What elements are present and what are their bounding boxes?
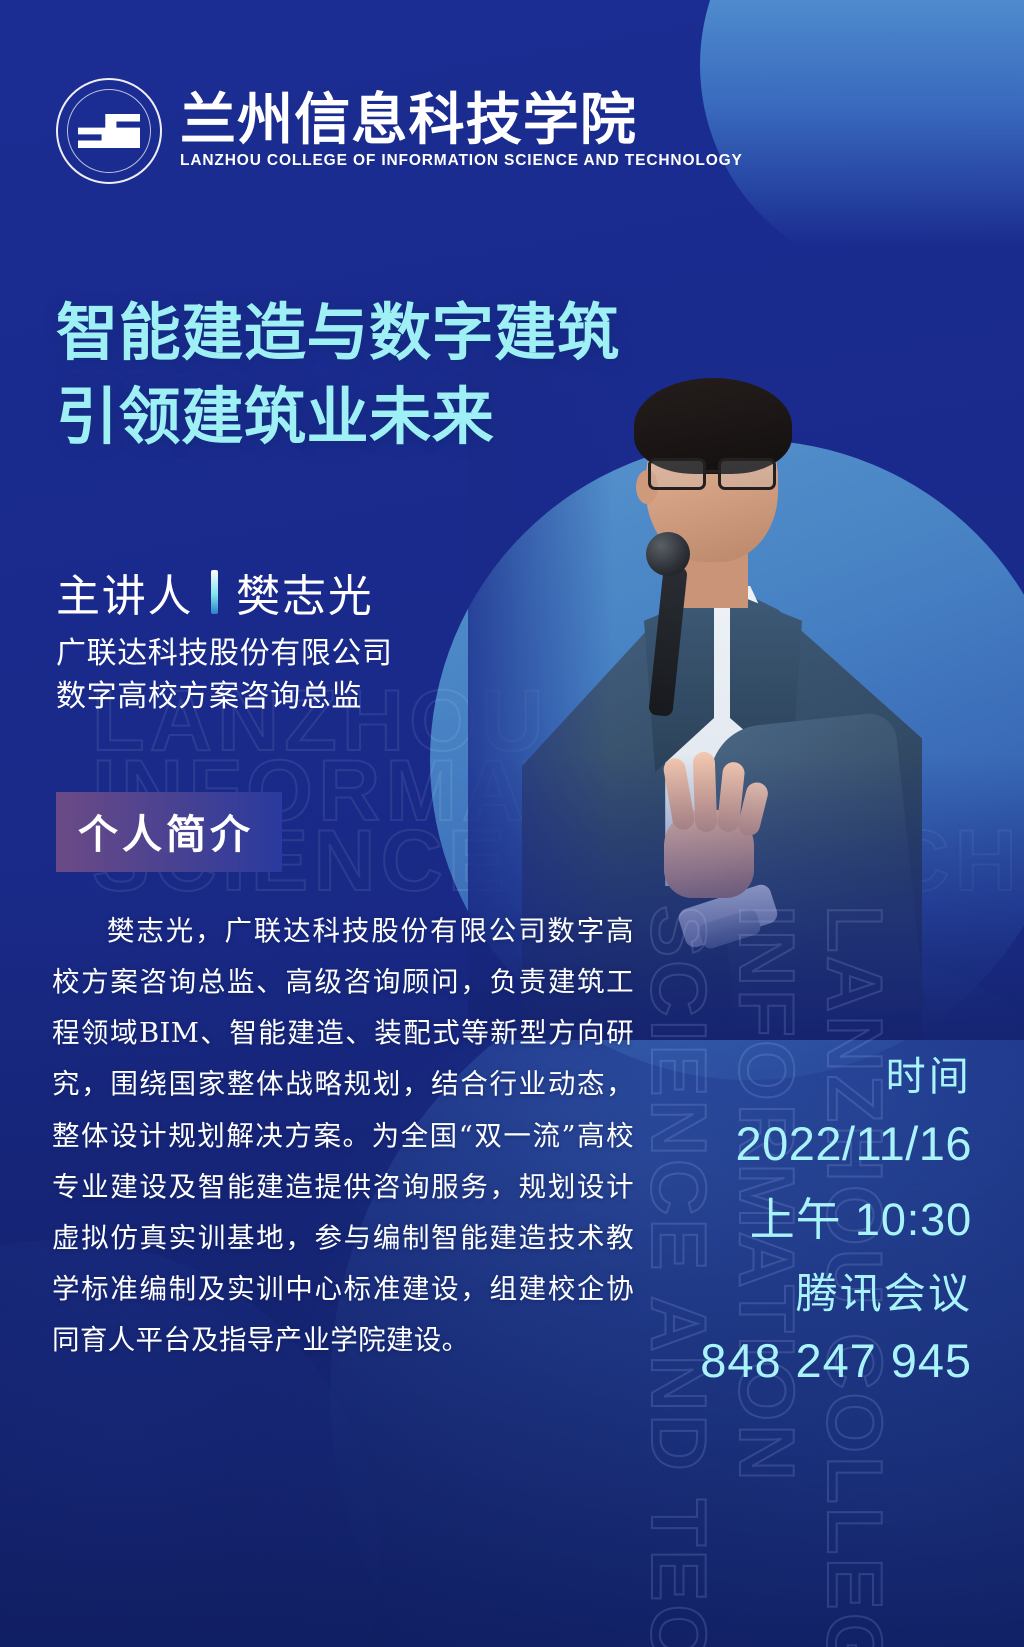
affiliation-line-2: 数字高校方案咨询总监 (56, 675, 393, 718)
title-line-1: 智能建造与数字建筑 (56, 292, 620, 376)
bio-paragraph: 樊志光，广联达科技股份有限公司数字高校方案咨询总监、高级咨询顾问，负责建筑工程领… (52, 906, 634, 1366)
meeting-platform: 腾讯会议 (700, 1260, 972, 1321)
university-crest-icon (56, 78, 162, 184)
poster-title: 智能建造与数字建筑 引领建筑业未来 (56, 292, 620, 461)
speaker-separator-bar (211, 570, 218, 614)
speaker-name: 樊志光 (236, 560, 373, 624)
title-line-2: 引领建筑业未来 (56, 376, 620, 460)
meeting-id: 848 247 945 (700, 1333, 972, 1388)
meeting-time-label: 时间 (700, 1044, 972, 1102)
university-name-cn: 兰州信息科技学院 (180, 92, 743, 148)
meeting-info: 时间 2022/11/16 上午 10:30 腾讯会议 848 247 945 (700, 1044, 972, 1388)
university-name-en: LANZHOU COLLEGE OF INFORMATION SCIENCE A… (180, 152, 743, 170)
event-poster: LANZHOU INFORMATION SCIENCE AND TECHNOLO… (0, 0, 1024, 1647)
speaker-heading: 主讲人 樊志光 (56, 560, 374, 624)
meeting-date: 2022/11/16 (700, 1116, 972, 1171)
university-logo: 兰州信息科技学院 LANZHOU COLLEGE OF INFORMATION … (56, 78, 743, 184)
speaker-role-label: 主讲人 (56, 560, 193, 624)
affiliation-line-1: 广联达科技股份有限公司 (56, 632, 393, 675)
bio-section-badge: 个人简介 (56, 792, 282, 872)
speaker-affiliation: 广联达科技股份有限公司 数字高校方案咨询总监 (56, 632, 393, 718)
meeting-time: 上午 10:30 (700, 1183, 972, 1248)
logo-text-block: 兰州信息科技学院 LANZHOU COLLEGE OF INFORMATION … (180, 92, 743, 170)
